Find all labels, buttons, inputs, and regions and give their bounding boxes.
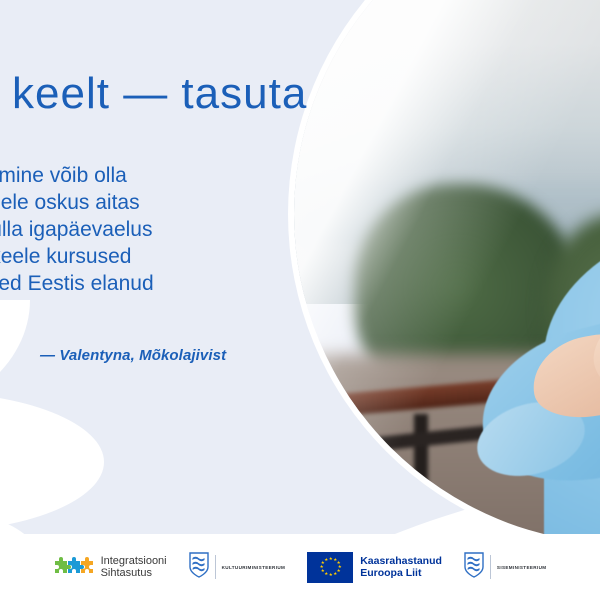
- estonia-coat-of-arms-icon: [189, 552, 209, 583]
- testimonial-quote: Kohanemine võib olla Eesti keele oskus a…: [0, 162, 266, 324]
- campaign-banner: Eesti keelt — tasuta Kohanemine võib oll…: [0, 0, 600, 600]
- decorative-blob-left-lens: [0, 392, 104, 532]
- integration-foundation-logo: Integratsiooni Sihtasutus: [54, 555, 167, 580]
- interior-ministry-label: SISEMINISTEERIUM: [497, 565, 547, 570]
- logo-divider: [215, 555, 216, 579]
- eu-cofunding-logo: ★ ★ ★ ★ ★ ★ ★ ★ ★ ★ ★ ★ Kaasrahastanud E…: [307, 552, 442, 583]
- integration-foundation-label: Integratsiooni Sihtasutus: [101, 555, 167, 580]
- logo-divider: [490, 555, 491, 579]
- puzzle-logo-icon: [54, 556, 94, 578]
- culture-ministry-label: KULTUURIMINISTEERIUM: [222, 565, 286, 570]
- page-title: Eesti keelt — tasuta: [0, 72, 416, 116]
- testimonial-attribution: — Valentyna, Mõkolajivist: [40, 347, 226, 364]
- interior-ministry-logo: SISEMINISTEERIUM: [464, 552, 547, 583]
- culture-ministry-logo: KULTUURIMINISTEERIUM: [189, 552, 286, 583]
- eu-cofunding-label: Kaasrahastanud Euroopa Liit: [360, 555, 442, 579]
- estonia-coat-of-arms-icon: [464, 552, 484, 583]
- eu-flag-icon: ★ ★ ★ ★ ★ ★ ★ ★ ★ ★ ★ ★: [307, 552, 353, 583]
- footer-logo-strip: Integratsiooni Sihtasutus KULTUURIMINIST…: [0, 534, 600, 600]
